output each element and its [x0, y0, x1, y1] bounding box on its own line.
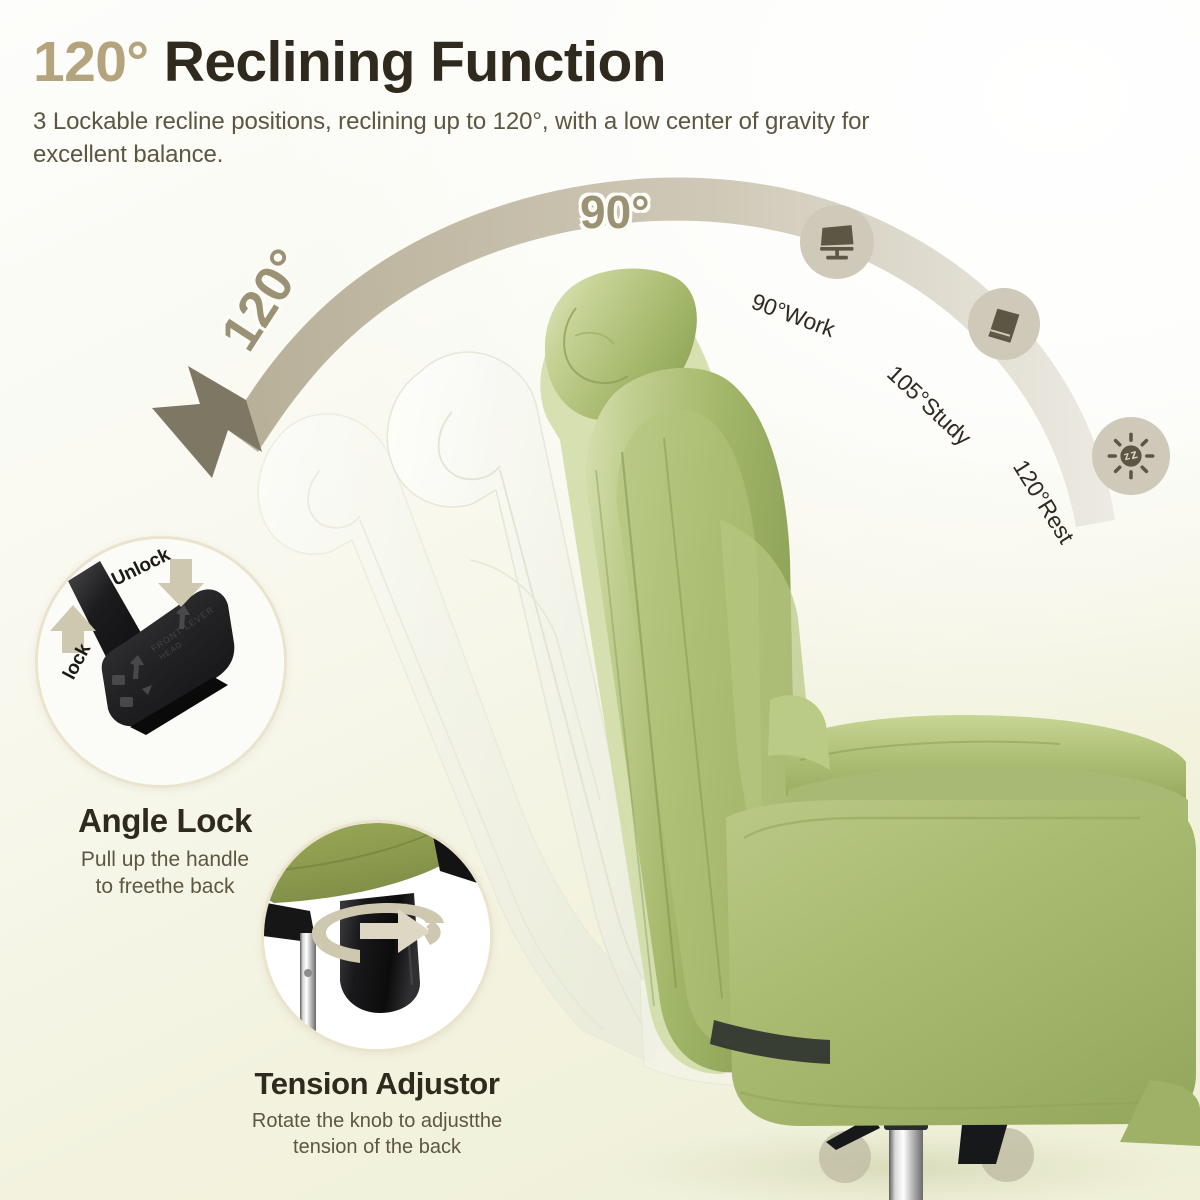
tension-adjustor-desc-line2: tension of the back [243, 1135, 511, 1161]
book-icon [982, 302, 1026, 346]
callout-tension-adjustor: Tension Adjustor Rotate the knob to adju… [243, 820, 511, 1160]
post-bolt [304, 969, 312, 977]
tension-adjustor-title: Tension Adjustor [243, 1066, 511, 1102]
arc-arrowhead [152, 366, 262, 478]
badge-study[interactable] [968, 288, 1040, 360]
angle-lock-photo[interactable]: FRONT LEVER HEAD Unlock lock [35, 536, 287, 788]
monitor-icon [814, 219, 860, 265]
plate-glyph-1 [112, 675, 125, 685]
infographic-canvas: 120° Reclining Function 3 Lockable recli… [0, 0, 1200, 1200]
badge-rest[interactable]: z z [1092, 417, 1170, 495]
sun-sleep-icon: z z [1106, 431, 1156, 481]
badge-work[interactable] [800, 205, 874, 279]
support-post [300, 933, 316, 1043]
plate-glyph-2 [120, 697, 133, 707]
gas-cylinder [889, 1124, 923, 1200]
tension-adjustor-photo[interactable] [261, 820, 493, 1052]
seat-cushion [726, 800, 1196, 1126]
tension-adjustor-desc-line1: Rotate the knob to adjustthe [243, 1109, 511, 1135]
tension-adjustor-illustration [264, 823, 490, 1049]
tension-adjustor-desc: Rotate the knob to adjustthe tension of … [243, 1109, 511, 1160]
